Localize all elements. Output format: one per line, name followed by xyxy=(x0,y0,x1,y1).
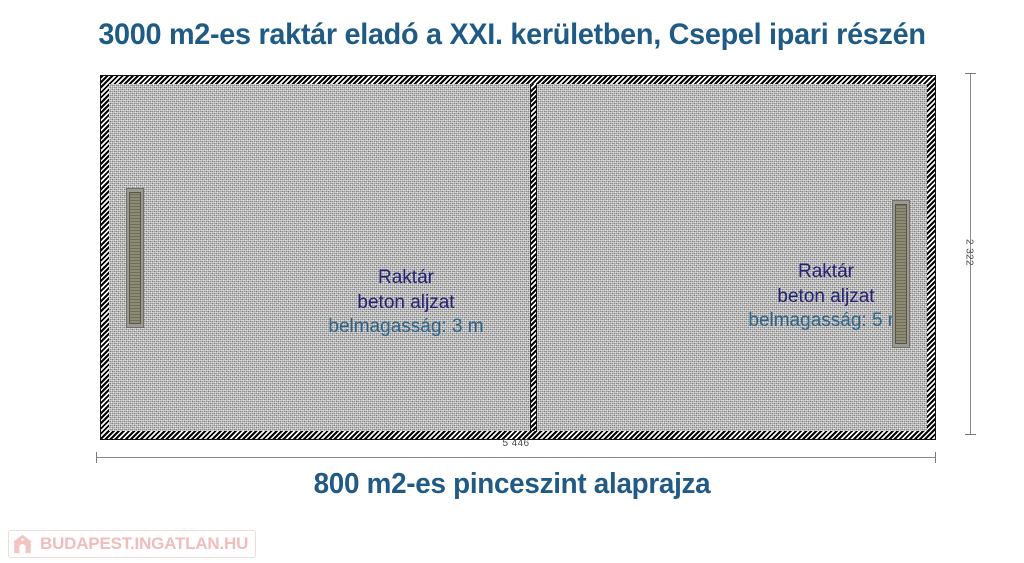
room-name-left: Raktár xyxy=(271,266,541,291)
dimension-height-tick-end xyxy=(965,434,976,435)
dimension-width-label: 5 446 xyxy=(96,438,936,449)
room-label-left: Raktár beton aljzat belmagasság: 3 m xyxy=(271,266,541,340)
dimension-height-tick-start xyxy=(965,73,976,74)
stair-symbol-right xyxy=(892,200,910,348)
stair-treads-left xyxy=(129,192,141,324)
watermark-badge: BUDAPEST.INGATLAN.HU xyxy=(8,530,256,558)
interior-dividing-wall xyxy=(530,84,537,431)
floorplan-caption: 800 m2-es pinceszint alaprajza xyxy=(20,468,1003,501)
room-height-left: belmagasság: 3 m xyxy=(271,315,541,340)
dimension-width-line xyxy=(96,457,936,458)
stair-symbol-left xyxy=(126,188,144,328)
dimension-height-label: 2 322 xyxy=(964,213,975,293)
floorplan-drawing: Raktár beton aljzat belmagasság: 3 m Rak… xyxy=(100,75,936,440)
dimension-height: 2 322 xyxy=(963,73,977,435)
stair-treads-right xyxy=(895,204,907,344)
dimension-width-tick-end xyxy=(935,452,936,463)
page-title: 3000 m2-es raktár eladó a XXI. kerületbe… xyxy=(20,18,1003,52)
watermark-text: BUDAPEST.INGATLAN.HU xyxy=(40,534,248,554)
room-floor-left: beton aljzat xyxy=(271,291,541,316)
dimension-width: 5 446 xyxy=(96,450,936,464)
dimension-width-tick-start xyxy=(96,452,97,463)
house-icon xyxy=(12,534,33,554)
floorplan-interior: Raktár beton aljzat belmagasság: 3 m Rak… xyxy=(109,84,927,431)
